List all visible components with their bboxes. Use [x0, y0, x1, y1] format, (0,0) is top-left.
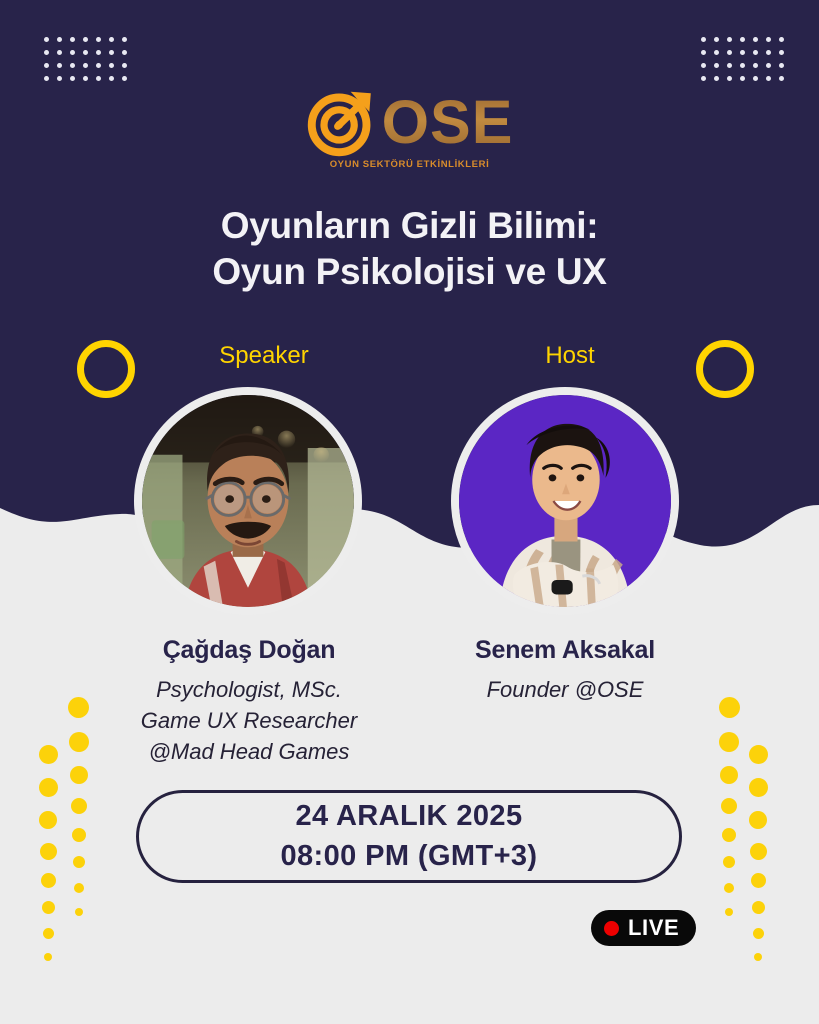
- deco-dot: [750, 843, 767, 860]
- event-poster: OSE OYUN SEKTÖRÜ ETKİNLİKLERİ Oyunların …: [0, 0, 819, 1024]
- status-badge-live: LIVE: [591, 910, 696, 946]
- grid-dot: [109, 76, 114, 81]
- grid-dot: [122, 76, 127, 81]
- deco-dot: [39, 745, 58, 764]
- grid-dot: [701, 37, 706, 42]
- grid-dot: [779, 37, 784, 42]
- deco-dot: [723, 856, 735, 868]
- deco-dot: [75, 908, 83, 916]
- grid-dot: [44, 76, 49, 81]
- dot-column-right-outer: [746, 745, 776, 995]
- deco-dot: [719, 732, 739, 752]
- grid-dot: [766, 50, 771, 55]
- deco-dot: [749, 778, 768, 797]
- deco-dot: [71, 798, 87, 814]
- grid-dot: [701, 76, 706, 81]
- grid-dot: [714, 37, 719, 42]
- deco-dot: [43, 928, 54, 939]
- deco-dot: [68, 697, 89, 718]
- grid-dot: [44, 37, 49, 42]
- person-role-line-2: Game UX Researcher: [104, 705, 394, 736]
- grid-dot: [70, 76, 75, 81]
- deco-dot: [752, 901, 765, 914]
- deco-dot: [719, 697, 740, 718]
- grid-dot: [766, 37, 771, 42]
- page-title: Oyunların Gizli Bilimi: Oyun Psikolojisi…: [0, 203, 819, 295]
- dot-grid-top-left: [40, 33, 131, 85]
- grid-dot: [779, 50, 784, 55]
- deco-dot: [754, 953, 762, 961]
- deco-dot: [751, 873, 766, 888]
- grid-dot: [122, 63, 127, 68]
- grid-dot: [57, 76, 62, 81]
- logo-tagline: OYUN SEKTÖRÜ ETKİNLİKLERİ: [330, 159, 490, 170]
- grid-dot: [727, 37, 732, 42]
- grid-dot: [83, 37, 88, 42]
- grid-dot: [727, 76, 732, 81]
- grid-dot: [96, 37, 101, 42]
- grid-dot: [740, 76, 745, 81]
- title-line-1: Oyunların Gizli Bilimi:: [0, 203, 819, 249]
- deco-dot: [40, 843, 57, 860]
- grid-dot: [740, 50, 745, 55]
- grid-dot: [70, 37, 75, 42]
- deco-dot: [749, 745, 768, 764]
- grid-dot: [714, 50, 719, 55]
- person-role: Founder @OSE: [425, 674, 705, 705]
- logo-row: OSE: [306, 86, 514, 158]
- person-role: Psychologist, MSc. Game UX Researcher @M…: [104, 674, 394, 768]
- deco-dot: [72, 828, 86, 842]
- avatar-speaker-image: [142, 395, 354, 607]
- grid-dot: [70, 50, 75, 55]
- grid-dot: [44, 50, 49, 55]
- grid-dot: [779, 76, 784, 81]
- deco-dot: [69, 732, 89, 752]
- grid-dot: [83, 63, 88, 68]
- target-arrow-icon: [306, 86, 378, 158]
- grid-dot: [766, 76, 771, 81]
- grid-dot: [57, 37, 62, 42]
- grid-dot: [740, 37, 745, 42]
- grid-dot: [96, 63, 101, 68]
- person-block-host: Senem Aksakal Founder @OSE: [425, 636, 705, 705]
- grid-dot: [109, 37, 114, 42]
- deco-dot: [721, 798, 737, 814]
- deco-dot: [720, 766, 738, 784]
- logo-wordmark: OSE: [382, 92, 514, 153]
- person-block-speaker: Çağdaş Doğan Psychologist, MSc. Game UX …: [104, 636, 394, 768]
- grid-dot: [57, 50, 62, 55]
- deco-dot: [39, 778, 58, 797]
- ose-logo: OSE OYUN SEKTÖRÜ ETKİNLİKLERİ: [0, 86, 819, 170]
- deco-dot: [41, 873, 56, 888]
- grid-dot: [753, 63, 758, 68]
- decorative-ring-left: [77, 340, 135, 398]
- dot-column-left-outer: [36, 745, 66, 995]
- decorative-ring-right: [696, 340, 754, 398]
- avatar-speaker: [134, 387, 362, 615]
- deco-dot: [74, 883, 84, 893]
- deco-dot: [42, 901, 55, 914]
- person-role-line-3: @Mad Head Games: [104, 736, 394, 767]
- grid-dot: [753, 37, 758, 42]
- grid-dot: [70, 63, 75, 68]
- grid-dot: [96, 50, 101, 55]
- deco-dot: [39, 811, 57, 829]
- grid-dot: [122, 50, 127, 55]
- grid-dot: [714, 63, 719, 68]
- record-dot-icon: [604, 921, 619, 936]
- deco-dot: [749, 811, 767, 829]
- dot-grid-top-right: [697, 33, 788, 85]
- live-badge-label: LIVE: [628, 915, 679, 941]
- grid-dot: [96, 76, 101, 81]
- grid-dot: [740, 63, 745, 68]
- dot-column-right-inner: [716, 697, 746, 957]
- grid-dot: [701, 50, 706, 55]
- avatar-host: [451, 387, 679, 615]
- deco-dot: [44, 953, 52, 961]
- grid-dot: [109, 50, 114, 55]
- deco-dot: [73, 856, 85, 868]
- deco-dot: [722, 828, 736, 842]
- role-label-speaker: Speaker: [164, 342, 364, 370]
- grid-dot: [83, 50, 88, 55]
- role-label-host: Host: [470, 342, 670, 370]
- deco-dot: [70, 766, 88, 784]
- grid-dot: [766, 63, 771, 68]
- person-role-line-1: Psychologist, MSc.: [104, 674, 394, 705]
- grid-dot: [701, 63, 706, 68]
- grid-dot: [57, 63, 62, 68]
- grid-dot: [753, 76, 758, 81]
- grid-dot: [714, 76, 719, 81]
- grid-dot: [109, 63, 114, 68]
- avatar-host-image: [459, 395, 671, 607]
- event-date: 24 ARALIK 2025: [296, 797, 523, 836]
- title-line-2: Oyun Psikolojisi ve UX: [0, 249, 819, 295]
- grid-dot: [122, 37, 127, 42]
- deco-dot: [724, 883, 734, 893]
- event-time: 08:00 PM (GMT+3): [281, 837, 538, 876]
- person-name: Senem Aksakal: [425, 636, 705, 665]
- person-name: Çağdaş Doğan: [104, 636, 394, 665]
- dot-column-left-inner: [66, 697, 96, 957]
- grid-dot: [779, 63, 784, 68]
- person-role-line-1: Founder @OSE: [425, 674, 705, 705]
- deco-dot: [753, 928, 764, 939]
- grid-dot: [44, 63, 49, 68]
- grid-dot: [727, 63, 732, 68]
- deco-dot: [725, 908, 733, 916]
- grid-dot: [753, 50, 758, 55]
- grid-dot: [727, 50, 732, 55]
- grid-dot: [83, 76, 88, 81]
- event-datetime-box: 24 ARALIK 2025 08:00 PM (GMT+3): [136, 790, 682, 883]
